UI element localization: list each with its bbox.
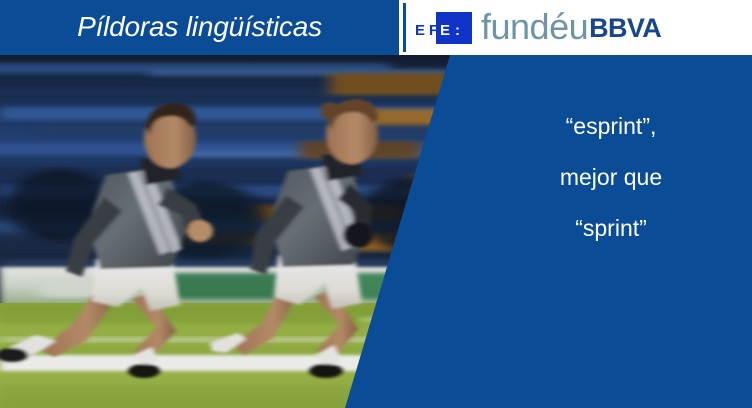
efe-letter-colon: :	[455, 23, 461, 38]
header-divider-rule	[403, 3, 406, 52]
message-line-2: mejor que	[560, 166, 662, 189]
header-bar: Píldoras lingüísticas E F E : fundéu BBV…	[0, 0, 752, 55]
bbva-wordmark: BBVA	[589, 15, 661, 42]
page-title: Píldoras lingüísticas	[0, 0, 399, 55]
efe-letter-e1: E	[415, 23, 426, 38]
message-line-3: “sprint”	[575, 217, 647, 240]
efe-logo-icon: E F E :	[414, 12, 472, 44]
message-block: “esprint”, mejor que “sprint”	[470, 55, 752, 408]
fundeu-wordmark: fundéu	[481, 9, 588, 45]
fundeu-bbva-logo[interactable]: E F E : fundéu BBVA	[414, 0, 661, 55]
pildoras-linguisticas-card: Píldoras lingüísticas E F E : fundéu BBV…	[0, 0, 752, 408]
efe-letter-e2: E	[440, 23, 451, 38]
efe-logo-letters: E F E :	[414, 12, 472, 44]
efe-letter-f: F	[429, 23, 439, 38]
message-line-1: “esprint”,	[566, 115, 657, 138]
